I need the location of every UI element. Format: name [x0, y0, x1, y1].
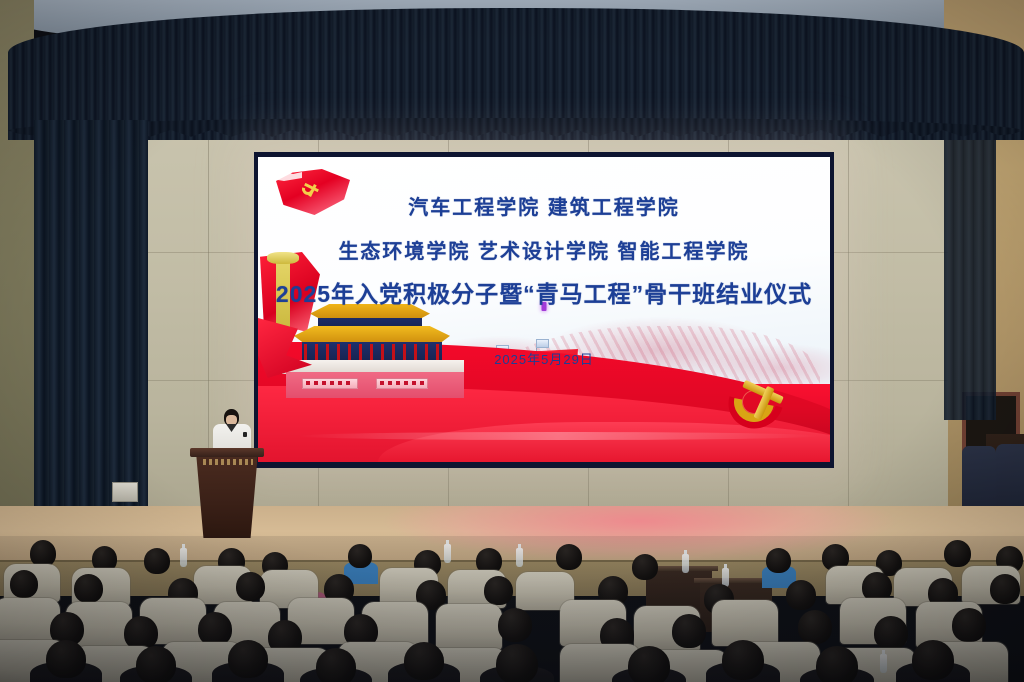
- audience-head: [496, 644, 538, 682]
- audience-head: [628, 646, 670, 682]
- audience-head: [348, 544, 372, 568]
- audience-head: [766, 548, 791, 573]
- audience-head: [952, 608, 986, 642]
- stage-monitor-speaker: [112, 482, 138, 502]
- audience-head: [46, 640, 86, 678]
- audience-head: [786, 580, 816, 610]
- slide-content: ★★ ★★ ★★: [258, 157, 830, 462]
- audience-head: [672, 614, 706, 648]
- slide-line-2: 生态环境学院 艺术设计学院 智能工程学院: [258, 239, 830, 265]
- stage-side-chair: [996, 444, 1024, 514]
- auditorium-photo: ★★ ★★ ★★: [0, 0, 1024, 682]
- audience-area: [0, 536, 1024, 682]
- audience-head: [798, 610, 832, 644]
- stage-curtain-right: [944, 120, 996, 420]
- gate-banner-left: [302, 378, 358, 389]
- hammer-and-sickle-emblem: [730, 376, 792, 432]
- water-bottle: [880, 654, 887, 673]
- slide-main-title: 2025年入党积极分子暨“青马工程”骨干班结业仪式: [258, 279, 830, 309]
- audience-head: [10, 570, 38, 598]
- audience-head: [484, 576, 513, 605]
- ribbon-highlight: [298, 432, 818, 440]
- audience-head: [316, 648, 356, 682]
- gate-banner-right: [376, 378, 428, 389]
- water-bottle: [682, 554, 689, 573]
- lectern-inscription: [203, 459, 253, 465]
- lectern-top: [190, 448, 264, 457]
- audience-head: [944, 540, 971, 567]
- water-bottle: [180, 548, 187, 567]
- audience-head: [556, 544, 582, 570]
- audience-head: [198, 612, 232, 646]
- audience-head: [136, 646, 176, 682]
- audience-head: [228, 640, 268, 678]
- audience-head: [144, 548, 170, 574]
- audience-head: [816, 646, 858, 682]
- ceremonial-flag: [536, 339, 549, 348]
- audience-head: [990, 574, 1020, 604]
- led-screen: ★★ ★★ ★★: [254, 152, 834, 468]
- water-bottle: [516, 548, 523, 567]
- water-bottle: [444, 544, 451, 563]
- audience-head: [912, 640, 954, 680]
- audience-head: [404, 642, 444, 680]
- audience-head: [74, 574, 103, 603]
- audience-head: [874, 616, 908, 650]
- slide-date: 2025年5月29日: [258, 349, 830, 368]
- speaker-badge: [243, 432, 247, 437]
- audience-head: [632, 554, 658, 580]
- audience-head: [236, 572, 265, 601]
- audience-head: [498, 608, 532, 642]
- audience-head: [30, 540, 56, 567]
- auditorium-seat: [436, 604, 502, 650]
- slide-heading-block: 汽车工程学院 建筑工程学院 生态环境学院 艺术设计学院 智能工程学院 2025年…: [258, 195, 830, 309]
- audience-head: [722, 640, 764, 680]
- audience-head: [124, 616, 158, 650]
- slide-line-1: 汽车工程学院 建筑工程学院: [258, 195, 830, 221]
